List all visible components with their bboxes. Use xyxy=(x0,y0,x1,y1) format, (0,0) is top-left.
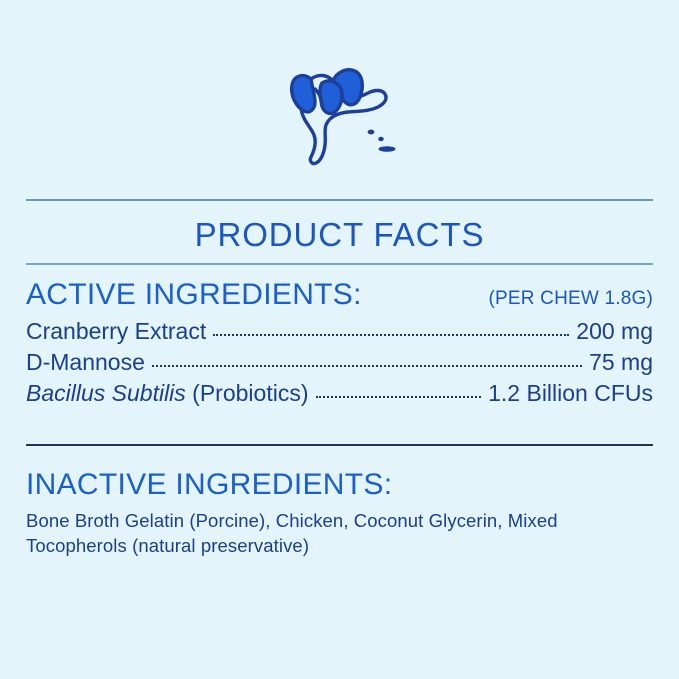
ingredient-name: Cranberry Extract xyxy=(26,318,206,345)
divider-top xyxy=(26,199,653,201)
dog-head-logo xyxy=(270,49,410,169)
active-ingredients-header: ACTIVE INGREDIENTS: (PER CHEW 1.8G) xyxy=(26,278,653,312)
inactive-ingredients-heading: INACTIVE INGREDIENTS: xyxy=(26,468,392,502)
active-ingredients-heading: ACTIVE INGREDIENTS: xyxy=(26,278,362,312)
sparkle-dots xyxy=(367,130,395,152)
active-ingredients-list: Cranberry Extract 200 mg D-Mannose 75 mg… xyxy=(26,318,653,411)
ingredient-row: Bacillus Subtilis (Probiotics) 1.2 Billi… xyxy=(26,380,653,411)
ingredient-amount: 1.2 Billion CFUs xyxy=(488,380,653,407)
divider-bottom xyxy=(26,444,653,446)
ingredient-name: Bacillus Subtilis (Probiotics) xyxy=(26,380,309,407)
ingredient-name-suffix: (Probiotics) xyxy=(186,380,309,406)
ingredient-amount: 200 mg xyxy=(576,318,653,345)
ingredient-row: D-Mannose 75 mg xyxy=(26,349,653,380)
product-facts-label: PRODUCT FACTS ACTIVE INGREDIENTS: (PER C… xyxy=(0,0,679,679)
brand-logo xyxy=(0,44,679,174)
dot-leader xyxy=(152,364,582,367)
divider-middle xyxy=(26,263,653,265)
page-title: PRODUCT FACTS xyxy=(0,216,679,254)
inactive-ingredients-text: Bone Broth Gelatin (Porcine), Chicken, C… xyxy=(26,508,586,558)
dot-leader xyxy=(316,395,482,398)
dot-leader xyxy=(213,333,569,336)
serving-size-note: (PER CHEW 1.8G) xyxy=(488,288,653,312)
ingredient-amount: 75 mg xyxy=(589,349,653,376)
ingredient-scientific-name: Bacillus Subtilis xyxy=(26,380,186,406)
ingredient-row: Cranberry Extract 200 mg xyxy=(26,318,653,349)
ingredient-name: D-Mannose xyxy=(26,349,145,376)
